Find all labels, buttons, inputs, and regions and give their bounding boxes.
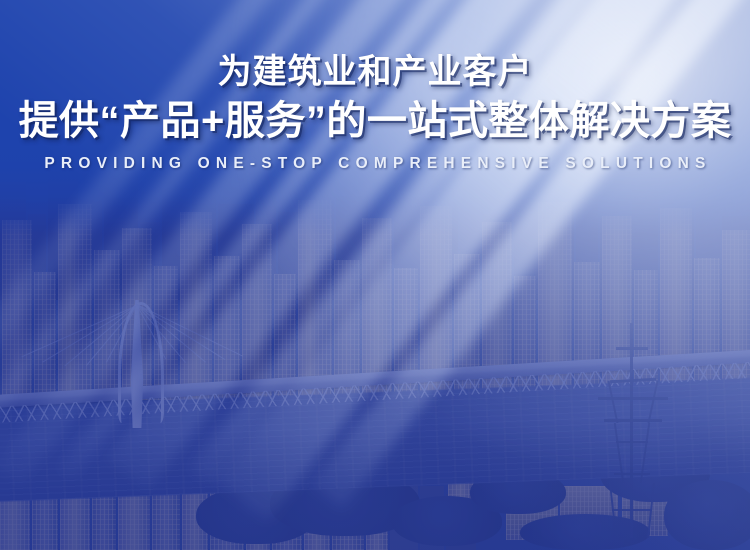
headline-line-2: 提供“产品+服务”的一站式整体解决方案: [0, 89, 750, 141]
banner-text-block: 为建筑业和产业客户 提供“产品+服务”的一站式整体解决方案 PROVIDING …: [0, 0, 750, 173]
hero-banner: 为建筑业和产业客户 提供“产品+服务”的一站式整体解决方案 PROVIDING …: [0, 0, 750, 550]
headline-line-1: 为建筑业和产业客户: [0, 0, 750, 89]
subtitle-english: PROVIDING ONE-STOP COMPREHENSIVE SOLUTIO…: [0, 155, 750, 173]
